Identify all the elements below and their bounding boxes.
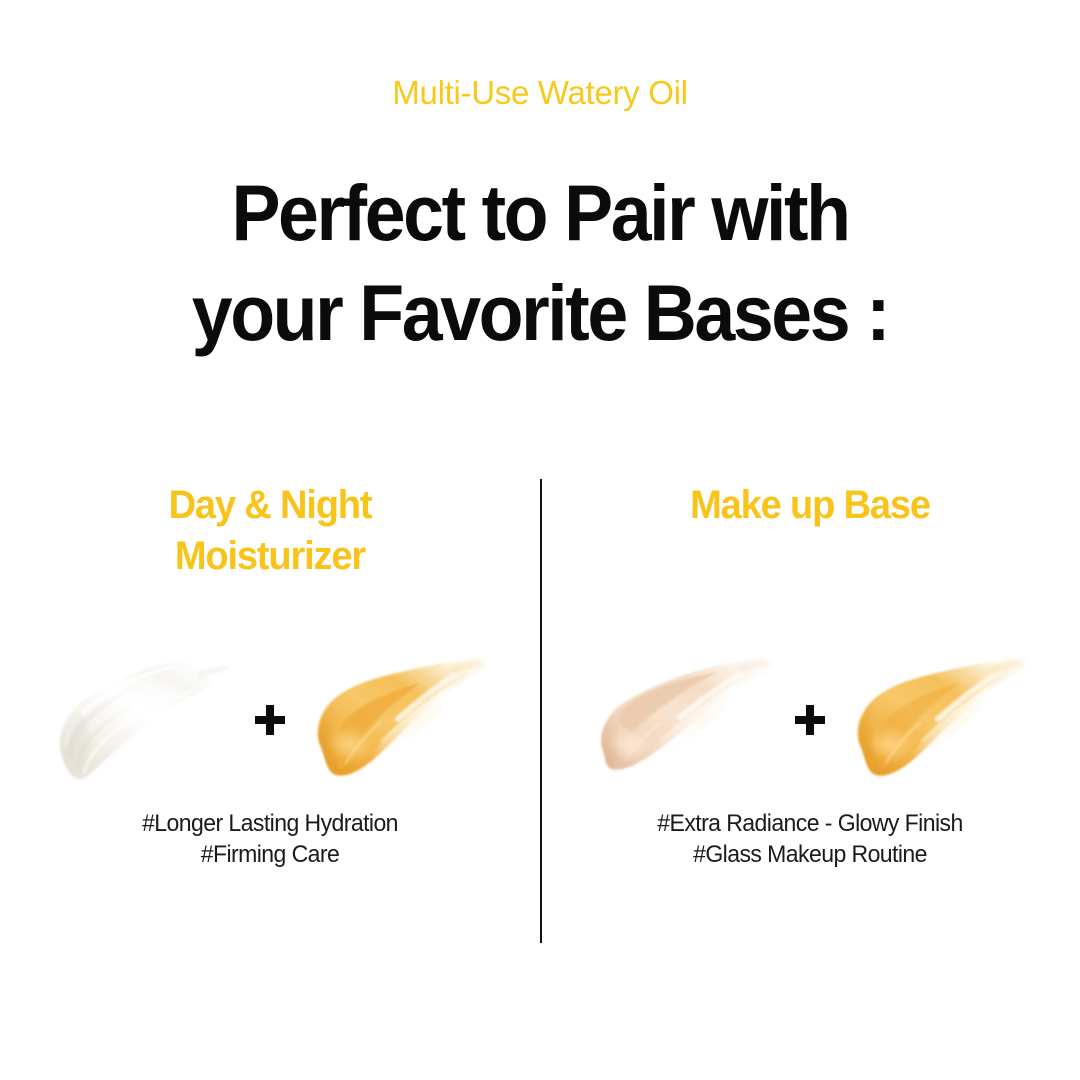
golden-oil-swatch-icon [302, 645, 492, 795]
column-caption-line-2: #Firming Care [11, 839, 529, 870]
page-title-line-2: your Favorite Bases : [38, 263, 1042, 363]
column-title: Make up Base [554, 480, 1067, 531]
column-title-line-1: Day & Night [14, 480, 527, 531]
pairing-column-make-up-base: Make up Base [540, 470, 1080, 950]
product-pairing-infographic: Multi-Use Watery Oil Perfect to Pair wit… [0, 0, 1080, 1080]
column-caption-line-1: #Extra Radiance - Glowy Finish [551, 808, 1069, 839]
column-caption: #Longer Lasting Hydration #Firming Care [11, 808, 529, 870]
column-caption-line-1: #Longer Lasting Hydration [11, 808, 529, 839]
plus-combiner-icon [778, 645, 842, 795]
page-title-line-1: Perfect to Pair with [38, 163, 1042, 263]
plus-combiner-icon [238, 645, 302, 795]
pairing-column-day-night-moisturizer: Day & Night Moisturizer [0, 470, 540, 950]
product-eyebrow-label: Multi-Use Watery Oil [0, 74, 1080, 112]
golden-oil-swatch-icon [842, 645, 1032, 795]
column-title-line-1: Make up Base [554, 480, 1067, 531]
column-caption: #Extra Radiance - Glowy Finish #Glass Ma… [551, 808, 1069, 870]
pairing-columns: Day & Night Moisturizer [0, 470, 1080, 950]
page-title: Perfect to Pair with your Favorite Bases… [38, 163, 1042, 362]
swatch-combination-row [540, 645, 1080, 795]
column-caption-line-2: #Glass Makeup Routine [551, 839, 1069, 870]
column-title-line-2: Moisturizer [14, 531, 527, 582]
white-cream-swatch-icon [48, 645, 238, 795]
beige-base-swatch-icon [588, 645, 778, 795]
swatch-combination-row [0, 645, 540, 795]
column-title: Day & Night Moisturizer [14, 480, 527, 582]
